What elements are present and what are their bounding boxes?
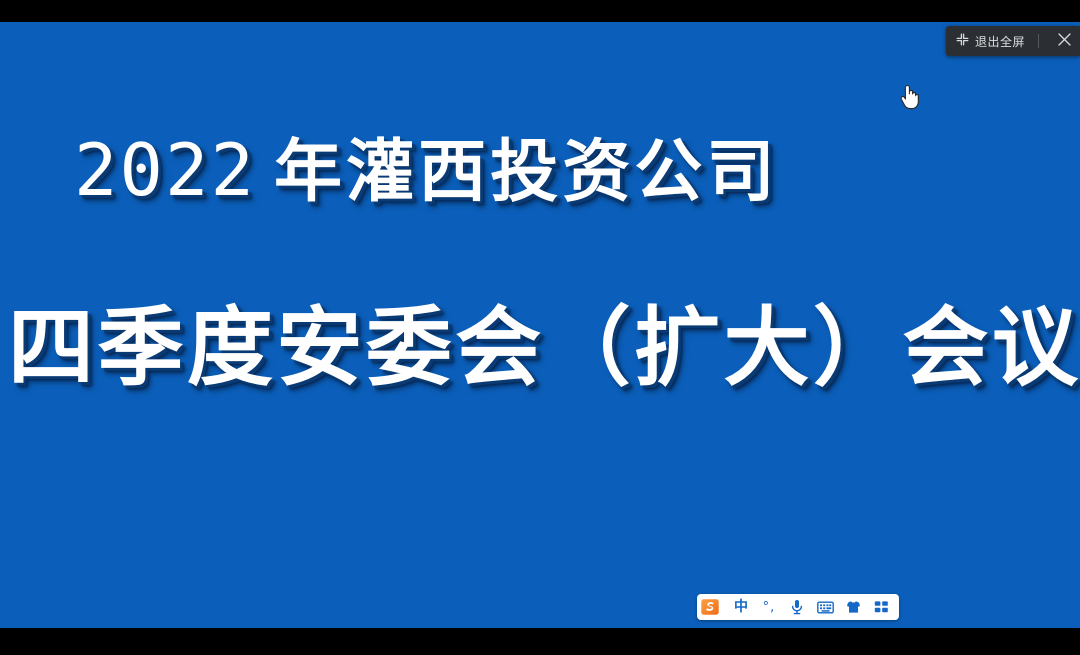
ime-voice-input-icon[interactable] (783, 594, 811, 620)
close-button[interactable] (1048, 26, 1080, 56)
ime-mode-chinese[interactable]: 中 (727, 594, 755, 620)
ime-punctuation-label: °, (763, 601, 776, 614)
ime-punctuation-toggle[interactable]: °, (755, 594, 783, 620)
ime-toolbox-icon[interactable] (867, 594, 895, 620)
ime-mode-label: 中 (734, 600, 748, 614)
letterbox-top (0, 0, 1080, 22)
sogou-logo-icon[interactable] (697, 594, 723, 620)
slide-title-line-1-text: 年灌西投资公司 (274, 133, 779, 212)
ime-soft-keyboard-icon[interactable] (811, 594, 839, 620)
slide-title-block: 2022年灌西投资公司 四季度安委会（扩大）会议 (0, 22, 1080, 628)
toolbar-divider (1038, 34, 1039, 48)
letterbox-bottom (0, 628, 1080, 655)
slide-title-year: 2022 (74, 128, 256, 212)
exit-fullscreen-label: 退出全屏 (975, 33, 1025, 50)
ime-skin-icon[interactable] (839, 594, 867, 620)
exit-fullscreen-button[interactable]: 退出全屏 (956, 26, 1033, 56)
fullscreen-presentation-screen: 2022年灌西投资公司 四季度安委会（扩大）会议 (0, 0, 1080, 655)
fullscreen-toolbar[interactable]: 退出全屏 (946, 26, 1080, 56)
slide-title-line-1: 2022年灌西投资公司 (74, 127, 779, 216)
exit-fullscreen-icon (956, 33, 969, 49)
sogou-ime-status-bar[interactable]: 中 °, (697, 594, 899, 620)
close-icon (1057, 32, 1072, 50)
slide-title-line-2: 四季度安委会（扩大）会议 (8, 294, 1080, 402)
presentation-slide[interactable]: 2022年灌西投资公司 四季度安委会（扩大）会议 (0, 22, 1080, 628)
